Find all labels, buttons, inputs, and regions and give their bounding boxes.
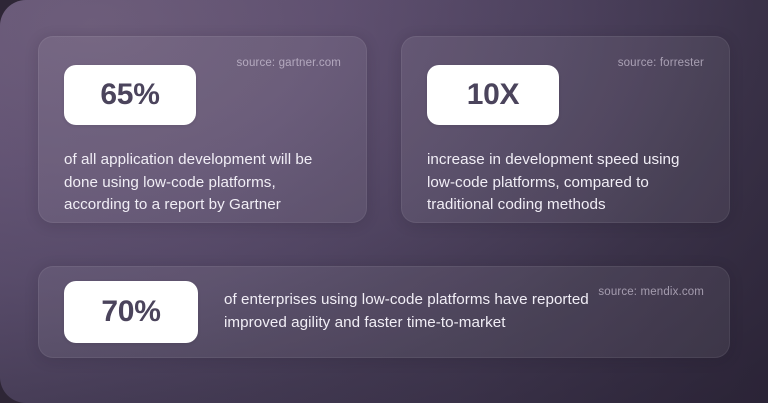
stat-card-forrester: source: forrester 10X increase in develo… [401, 36, 730, 223]
stat-badge-gartner: 65% [64, 65, 196, 125]
stats-infographic: source: gartner.com 65% of all applicati… [0, 0, 768, 403]
stat-source-label-mendix: source: mendix.com [598, 286, 704, 298]
stat-source-label-forrester: source: forrester [618, 57, 704, 69]
stat-body-forrester: increase in development speed using low-… [427, 149, 705, 217]
stats-card-grid: source: gartner.com 65% of all applicati… [0, 0, 768, 358]
stat-source-label-gartner: source: gartner.com [237, 57, 341, 69]
stat-badge-mendix: 70% [64, 281, 198, 343]
stat-body-gartner: of all application development will be d… [64, 149, 342, 217]
stat-card-mendix: source: mendix.com 70% of enterprises us… [38, 266, 730, 358]
stat-card-gartner: source: gartner.com 65% of all applicati… [38, 36, 367, 223]
stat-body-mendix: of enterprises using low-code platforms … [224, 289, 654, 335]
stat-badge-forrester: 10X [427, 65, 559, 125]
stats-top-row: source: gartner.com 65% of all applicati… [38, 36, 730, 223]
